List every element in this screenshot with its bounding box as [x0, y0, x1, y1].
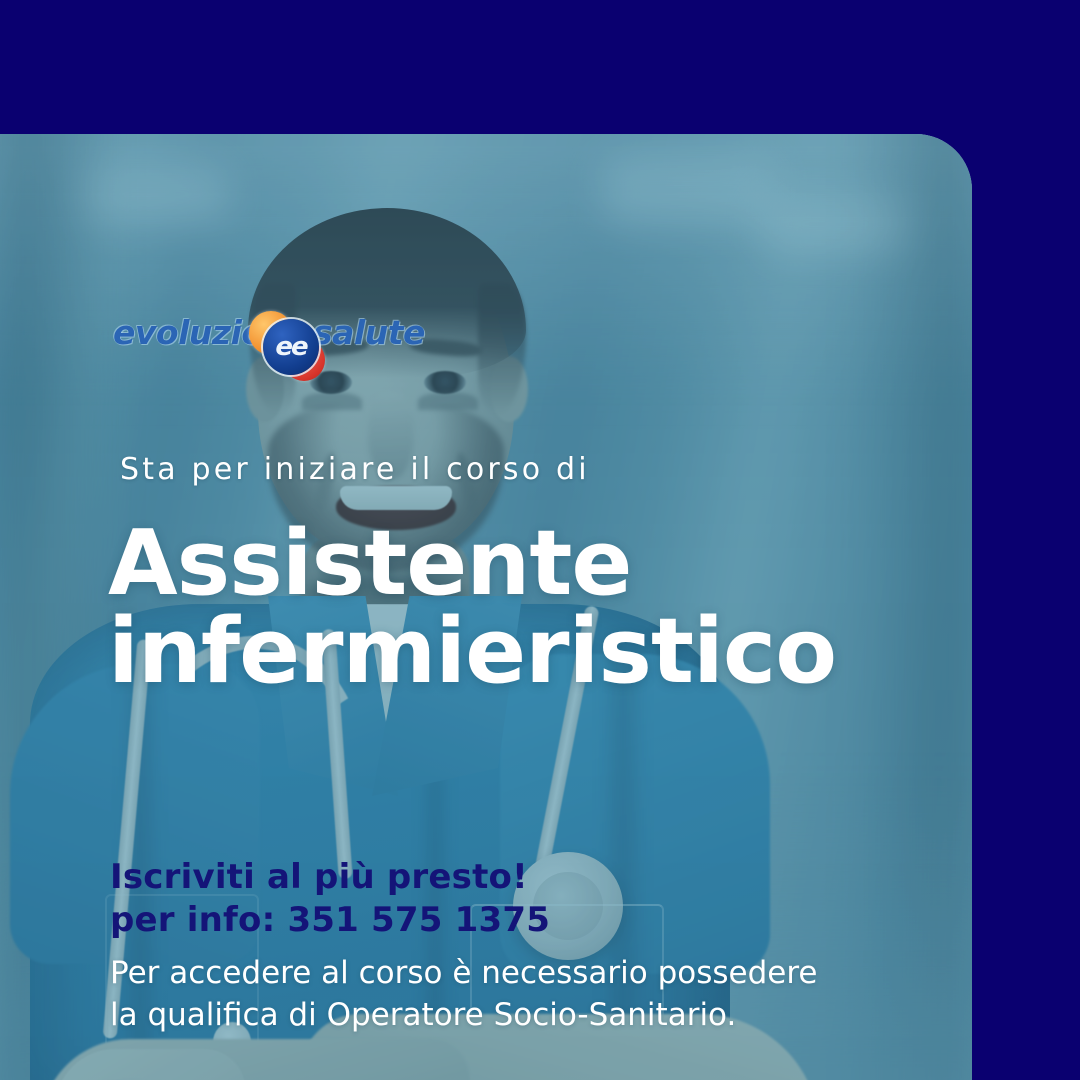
brand-logo[interactable]: evoluzion salute ee — [113, 311, 383, 359]
logo-badge-text: ee — [263, 319, 319, 375]
cta-block: Iscriviti al più presto! per info: 351 5… — [110, 856, 550, 942]
headline-line-2: infermieristico — [108, 608, 948, 696]
logo-wordmark-right: salute — [313, 313, 425, 352]
note-line-1: Per accedere al corso è necessario posse… — [110, 955, 818, 991]
kicker-text: Sta per iniziare il corso di — [120, 452, 590, 487]
photo-panel: evoluzion salute ee Sta per iniziare il … — [0, 134, 972, 1080]
requirement-note: Per accedere al corso è necessario posse… — [110, 952, 910, 1036]
note-line-2: la qualifica di Operatore Socio-Sanitari… — [110, 994, 910, 1036]
cta-phone-line[interactable]: per info: 351 575 1375 — [110, 899, 550, 942]
cta-line-1: Iscriviti al più presto! — [110, 857, 528, 897]
promo-poster: evoluzion salute ee Sta per iniziare il … — [0, 0, 1080, 1080]
page-title: Assistente infermieristico — [108, 520, 948, 696]
